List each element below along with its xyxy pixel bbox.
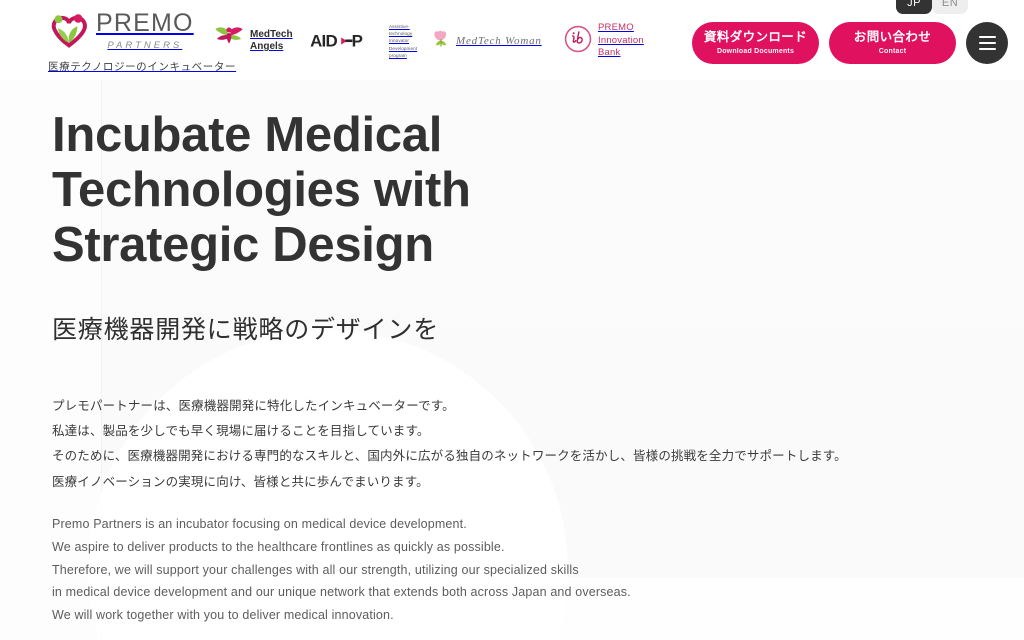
hero-title-line1: Incubate Medical <box>52 108 442 162</box>
brand-row: PREMO PARTNERS <box>48 10 228 52</box>
hero-body-english: Premo Partners is an incubator focusing … <box>52 513 982 627</box>
download-button-label-en: Download Documents <box>717 48 794 55</box>
hero-jp-line-3: そのために、医療機器開発における専門的なスキルと、国内外に広がる独自のネットワー… <box>52 444 982 469</box>
brand-name: PREMO <box>96 11 194 36</box>
language-switch[interactable]: JP EN <box>896 0 968 14</box>
contact-button[interactable]: お問い合わせ Contact <box>829 22 956 64</box>
brand-tagline: 医療テクノロジーのインキュベーター <box>48 59 228 74</box>
angel-wings-icon <box>214 26 244 57</box>
partner-label-line1: MedTech <box>250 29 293 40</box>
hero-jp-line-2: 私達は、製品を少しでも早く現場に届けることを目指しています。 <box>52 419 982 444</box>
hero-section: Incubate Medical Technologies with Strat… <box>52 108 982 627</box>
hero-en-line-4: in medical device development and our un… <box>52 581 982 604</box>
partner-label-line2: Angels <box>250 41 283 52</box>
tulip-flower-icon <box>430 28 452 54</box>
site-header: JP EN PREMO PARTNERS 医療テクノロジーのインキュベーター <box>0 0 1024 80</box>
contact-button-label-jp: お問い合わせ <box>854 31 931 45</box>
partner-logo-medtech-woman[interactable]: MedTech Woman <box>430 22 550 60</box>
partner-logo-medtech-angels[interactable]: MedTech Angels <box>214 22 304 60</box>
partner-label-premo-innovation-bank: PREMO Innovation Bank <box>598 22 644 60</box>
svg-text:AID: AID <box>310 31 337 50</box>
hero-jp-line-1: プレモパートナーは、医療機器開発に特化したインキュベーターです。 <box>52 394 982 419</box>
pib-label-line3: Bank <box>598 47 620 58</box>
hamburger-bar-3 <box>979 48 996 50</box>
hero-jp-line-4: 医療イノベーションの実現に向け、皆様と共に歩んでまいります。 <box>52 470 982 495</box>
pib-label-line2: Innovation <box>598 35 644 46</box>
hero-title-line2: Technologies with <box>52 163 471 217</box>
brand-logo-link[interactable]: PREMO PARTNERS 医療テクノロジーのインキュベーター <box>48 10 228 74</box>
hero-en-line-3: Therefore, we will support your challeng… <box>52 559 982 582</box>
partner-logo-aid-p[interactable]: AID P Assistive-technology Innovator Dev… <box>310 22 420 60</box>
partner-label-medtech-angels: MedTech Angels <box>250 29 293 54</box>
hero-body-japanese: プレモパートナーは、医療機器開発に特化したインキュベーターです。 私達は、製品を… <box>52 394 982 496</box>
partner-logo-list: MedTech Angels AID P Assistive-technolog… <box>214 22 664 60</box>
aidp-tagline-line1: Assistive-technology <box>389 24 412 36</box>
brand-wordmark: PREMO PARTNERS <box>96 11 194 51</box>
premo-heart-leaf-logo-icon <box>48 10 90 52</box>
svg-text:P: P <box>352 31 363 50</box>
aidp-tagline-line2: Innovator <box>389 38 409 43</box>
lang-button-jp[interactable]: JP <box>896 0 932 14</box>
header-actions: 資料ダウンロード Download Documents お問い合わせ Conta… <box>692 22 1008 64</box>
hero-en-line-2: We aspire to deliver products to the hea… <box>52 536 982 559</box>
hero-subtitle: 医療機器開発に戦略のデザインを <box>52 310 982 346</box>
contact-button-label-en: Contact <box>879 48 906 55</box>
pib-label-line1: PREMO <box>598 22 634 33</box>
page-title: Incubate Medical Technologies with Strat… <box>52 108 482 273</box>
hamburger-bar-1 <box>979 36 996 38</box>
download-button-label-jp: 資料ダウンロード <box>704 31 807 45</box>
download-documents-button[interactable]: 資料ダウンロード Download Documents <box>692 22 819 64</box>
ib-monogram-circle-icon <box>564 25 592 58</box>
hamburger-bar-2 <box>979 42 996 44</box>
aidp-tagline: Assistive-technology Innovator Developme… <box>389 23 420 59</box>
hero-en-line-5: We will work together with you to delive… <box>52 604 982 627</box>
partner-logo-premo-innovation-bank[interactable]: PREMO Innovation Bank <box>564 22 664 60</box>
hero-title-line3: Strategic Design <box>52 218 434 272</box>
aidp-wordmark-icon: AID P <box>310 31 384 51</box>
aidp-tagline-line3: Development program <box>389 46 417 58</box>
lang-button-en[interactable]: EN <box>932 0 968 14</box>
brand-subtitle: PARTNERS <box>107 40 182 51</box>
hamburger-menu-icon[interactable] <box>966 22 1008 64</box>
hero-en-line-1: Premo Partners is an incubator focusing … <box>52 513 982 536</box>
partner-label-medtech-woman: MedTech Woman <box>456 35 542 47</box>
